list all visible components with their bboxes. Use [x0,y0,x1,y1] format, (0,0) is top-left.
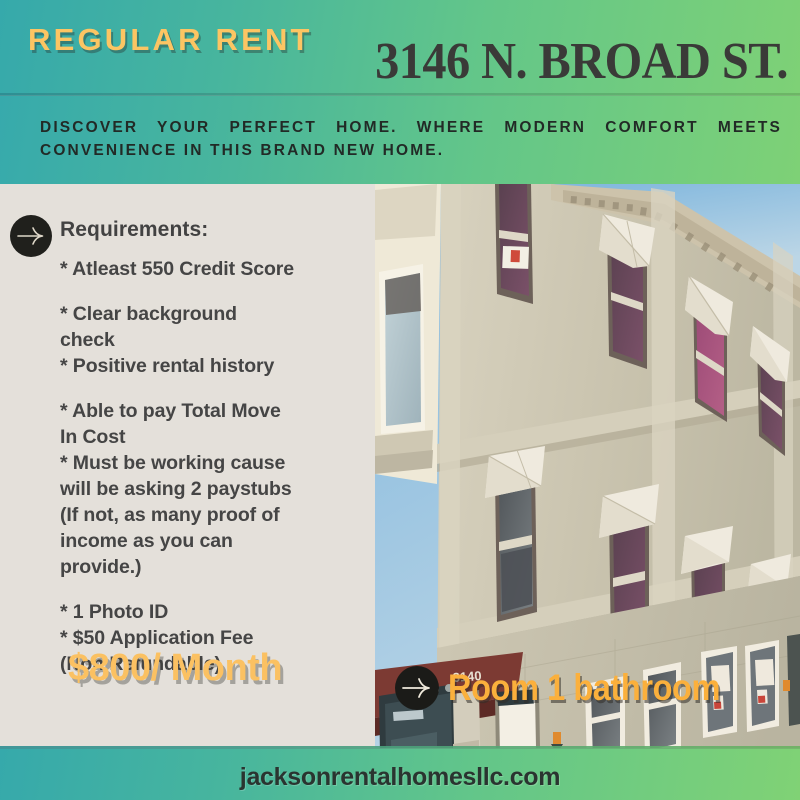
requirements-panel: Requirements: * Atleast 550 Credit Score… [0,184,375,748]
footer-band: jacksonrentalhomesllc.com [0,749,800,800]
requirement-group: * Clear background check* Positive renta… [60,301,370,379]
page-title: 3146 N. BROAD ST. [375,32,788,91]
requirement-group: * Atleast 550 Credit Score [60,256,370,282]
requirement-group: * Able to pay Total Move In Cost* Must b… [60,398,370,580]
requirements-list: * Atleast 550 Credit Score* Clear backgr… [60,256,370,677]
requirement-item: * Clear background check [60,301,370,353]
room-bathroom-label: Room 1 bathroom [448,667,720,709]
arrow-right-icon [10,215,52,257]
subtitle-line-1: DISCOVER YOUR PERFECT HOME. WHERE MODERN… [40,116,782,139]
website-url[interactable]: jacksonrentalhomesllc.com [0,763,800,792]
property-photo: 3140 [375,184,800,748]
arrow-right-icon [395,666,439,710]
requirement-item: * 1 Photo ID [60,599,370,625]
requirement-item: * Must be working cause will be asking 2… [60,450,370,580]
price-label: $800/ Month [68,647,282,690]
subtitle-line-2: CONVENIENCE IN THIS BRAND NEW HOME. [40,139,782,162]
requirement-item: * Atleast 550 Credit Score [60,256,370,282]
subtitle-text: DISCOVER YOUR PERFECT HOME. WHERE MODERN… [40,116,782,162]
rental-flyer: REGULAR RENT 3146 N. BROAD ST. DISCOVER … [0,0,800,800]
requirements-heading: Requirements: [60,218,208,242]
kicker-regular-rent: REGULAR RENT [28,22,313,58]
subtitle-band: DISCOVER YOUR PERFECT HOME. WHERE MODERN… [0,96,800,184]
requirement-item: * Positive rental history [60,353,370,379]
requirement-item: * Able to pay Total Move In Cost [60,398,370,450]
header-band: REGULAR RENT 3146 N. BROAD ST. [0,0,800,95]
